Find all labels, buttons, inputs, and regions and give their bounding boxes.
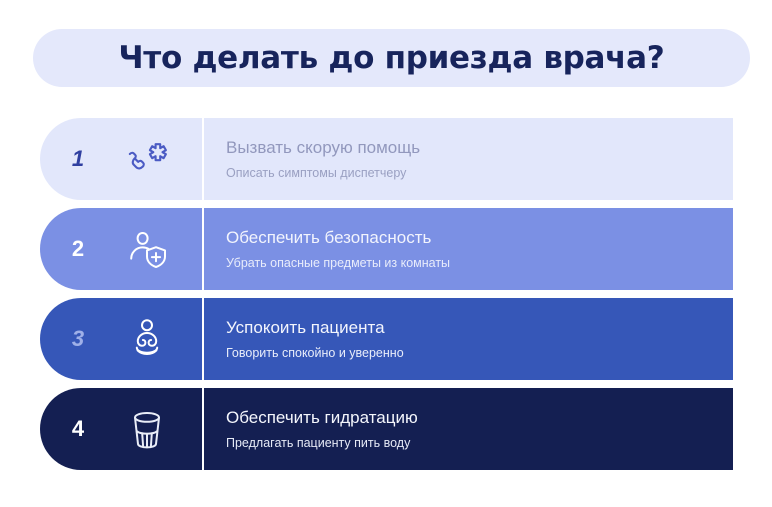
step-row[interactable]: 4 [40, 388, 733, 470]
step-subtitle: Описать симптомы диспетчеру [226, 166, 733, 181]
step-title: Обеспечить гидратацию [226, 407, 733, 428]
step-lead: 2 [40, 208, 202, 290]
step-body: Вызвать скорую помощь Описать симптомы д… [204, 118, 733, 200]
step-lead: 4 [40, 388, 202, 470]
step-subtitle: Говорить спокойно и уверенно [226, 346, 733, 361]
person-shield-plus-icon [116, 228, 178, 270]
step-number: 2 [40, 238, 116, 260]
step-title: Успокоить пациента [226, 317, 733, 338]
step-lead: 1 [40, 118, 202, 200]
step-title: Обеспечить безопасность [226, 227, 733, 248]
step-body: Обеспечить безопасность Убрать опасные п… [204, 208, 733, 290]
water-glass-icon [116, 407, 178, 451]
title-banner: Что делать до приезда врача? [33, 29, 750, 87]
step-subtitle: Убрать опасные предметы из комнаты [226, 256, 733, 271]
infographic-canvas: Что делать до приезда врача? 1 [0, 0, 772, 507]
step-number: 3 [40, 328, 116, 350]
step-body: Успокоить пациента Говорить спокойно и у… [204, 298, 733, 380]
step-subtitle: Предлагать пациенту пить воду [226, 436, 733, 451]
step-body: Обеспечить гидратацию Предлагать пациент… [204, 388, 733, 470]
steps-list: 1 Вызвать скорую помощь Описать симпт [40, 118, 733, 478]
phone-medical-cross-icon [116, 139, 178, 179]
page-title: Что делать до приезда врача? [119, 40, 665, 76]
step-title: Вызвать скорую помощь [226, 137, 733, 158]
step-row[interactable]: 3 [40, 298, 733, 380]
step-number: 4 [40, 418, 116, 440]
step-number: 1 [40, 148, 116, 170]
step-row[interactable]: 1 Вызвать скорую помощь Описать симпт [40, 118, 733, 200]
step-lead: 3 [40, 298, 202, 380]
step-row[interactable]: 2 [40, 208, 733, 290]
meditating-person-icon [116, 317, 178, 361]
